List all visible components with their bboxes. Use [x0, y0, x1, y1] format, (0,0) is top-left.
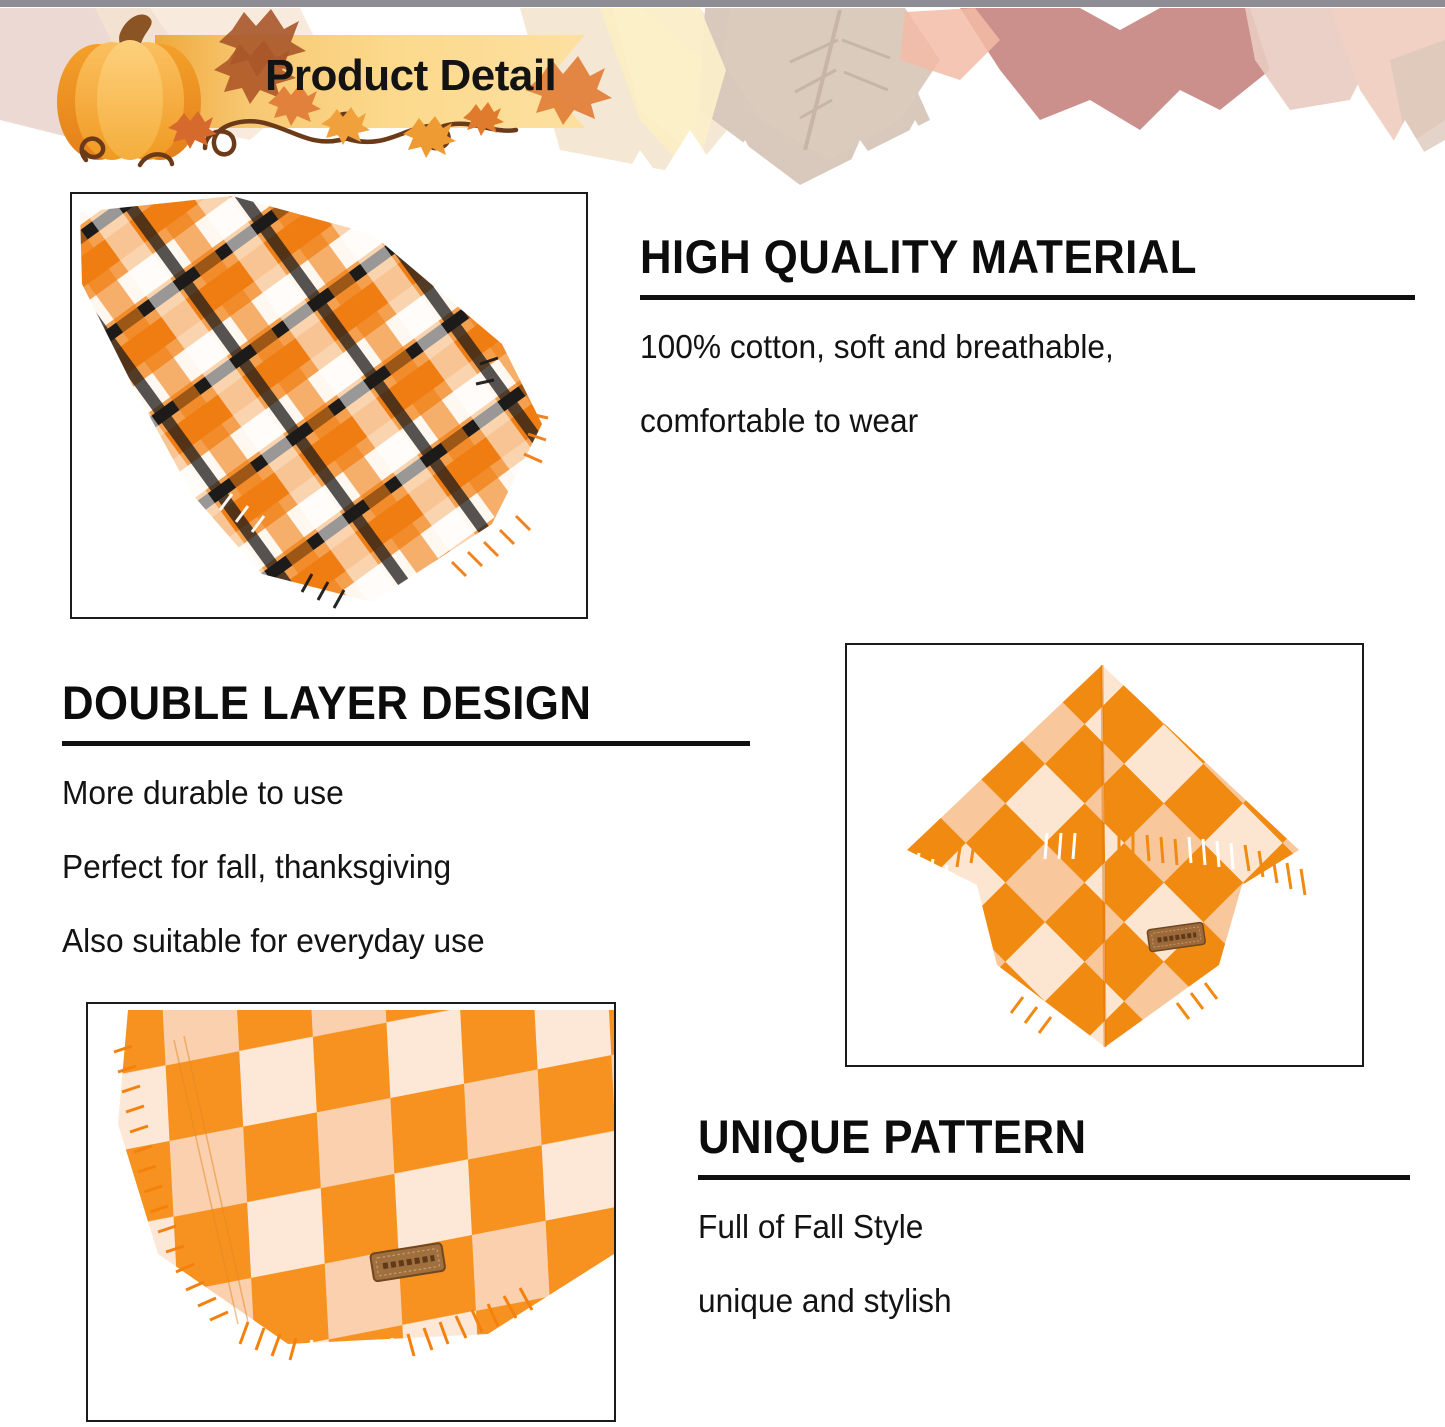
flat-bandana-photo [86, 1002, 616, 1422]
section-high-quality-material: HIGH QUALITY MATERIAL 100% cotton, soft … [640, 232, 1415, 437]
header-decoration [0, 0, 1445, 185]
plaid-closeup-photo [70, 192, 588, 619]
body-line: More durable to use [62, 776, 722, 809]
section-body: More durable to use Perfect for fall, th… [62, 776, 750, 957]
section-title: HIGH QUALITY MATERIAL [640, 232, 1361, 281]
section-double-layer-design: DOUBLE LAYER DESIGN More durable to use … [62, 678, 750, 957]
body-line: Full of Fall Style [698, 1210, 1382, 1243]
section-title: DOUBLE LAYER DESIGN [62, 678, 702, 727]
body-line: 100% cotton, soft and breathable, [640, 330, 1384, 363]
product-detail-page: Product Detail [0, 0, 1445, 1427]
body-line: Also suitable for everyday use [62, 924, 722, 957]
section-body: 100% cotton, soft and breathable, comfor… [640, 330, 1415, 437]
section-divider [640, 295, 1415, 300]
body-line: Perfect for fall, thanksgiving [62, 850, 722, 883]
folded-bandana-photo [845, 643, 1364, 1067]
section-unique-pattern: UNIQUE PATTERN Full of Fall Style unique… [698, 1112, 1410, 1317]
body-line: unique and stylish [698, 1284, 1382, 1317]
section-body: Full of Fall Style unique and stylish [698, 1210, 1410, 1317]
section-title: UNIQUE PATTERN [698, 1112, 1360, 1161]
section-divider [62, 741, 750, 746]
banner-title: Product Detail [265, 48, 565, 103]
page-header: Product Detail [0, 0, 1445, 185]
body-line: comfortable to wear [640, 404, 1384, 437]
section-divider [698, 1175, 1410, 1180]
